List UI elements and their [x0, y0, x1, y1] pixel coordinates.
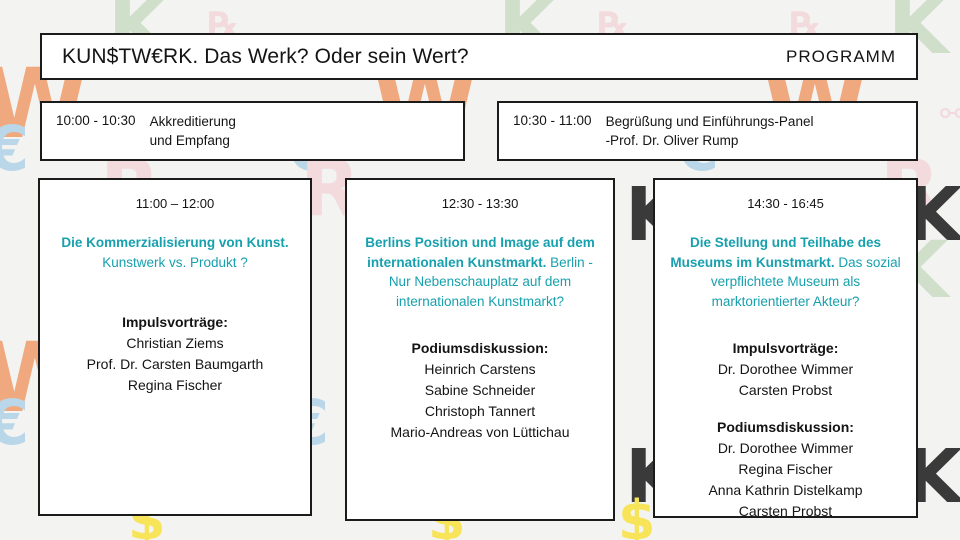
session-card-2: 12:30 - 13:30 Berlins Position und Image…	[345, 178, 615, 521]
session-participant: Dr. Dorothee Wimmer	[708, 438, 862, 459]
slot-description-line1: Begrüßung und Einführungs-Panel	[606, 112, 814, 131]
page-title: KUN$TW€RK. Das Werk? Oder sein Wert?	[62, 45, 469, 69]
session-block: Impulsvorträge: Christian Ziems Prof. Dr…	[87, 312, 264, 396]
session-block-heading: Impulsvorträge:	[718, 338, 853, 359]
slot-time: 10:00 - 10:30	[56, 112, 136, 128]
header-bar: KUN$TW€RK. Das Werk? Oder sein Wert? PRO…	[40, 33, 918, 80]
session-topic-regular: Kunstwerk vs. Produkt ?	[102, 255, 248, 270]
session-block-heading: Podiumsdiskussion:	[391, 338, 570, 359]
session-participant: Prof. Dr. Carsten Baumgarth	[87, 354, 264, 375]
session-card-3: 14:30 - 16:45 Die Stellung und Teilhabe …	[653, 178, 918, 518]
slot-description-line2: und Empfang	[150, 131, 236, 150]
session-participant: Dr. Dorothee Wimmer	[718, 359, 853, 380]
slot-time: 10:30 - 11:00	[513, 112, 592, 128]
session-topic: Berlins Position und Image auf dem inter…	[357, 233, 603, 312]
session-time: 12:30 - 13:30	[442, 196, 519, 211]
session-block-heading: Podiumsdiskussion:	[708, 417, 862, 438]
program-sheet: KUN$TW€RK. Das Werk? Oder sein Wert? PRO…	[0, 0, 960, 540]
session-topic: Die Stellung und Teilhabe des Museums im…	[665, 233, 906, 312]
slot-description-line1: Akkreditierung	[150, 112, 236, 131]
session-block-heading: Impulsvorträge:	[87, 312, 264, 333]
slot-description-line2: -Prof. Dr. Oliver Rump	[606, 131, 814, 150]
schedule-slot-accreditation: 10:00 - 10:30 Akkreditierung und Empfang	[40, 101, 465, 161]
session-participant: Anna Kathrin Distelkamp	[708, 480, 862, 501]
session-topic-bold: Die Kommerzialisierung von Kunst.	[61, 235, 288, 250]
session-participant: Regina Fischer	[708, 459, 862, 480]
session-participant: Carsten Probst	[718, 380, 853, 401]
session-block: Impulsvorträge: Dr. Dorothee Wimmer Cars…	[718, 338, 853, 401]
session-participant: Carsten Probst	[708, 501, 862, 522]
page-title-brand: KUN$TW€RK.	[62, 45, 198, 68]
session-time: 11:00 – 12:00	[136, 196, 215, 211]
session-participant: Regina Fischer	[87, 375, 264, 396]
session-participant: Christoph Tannert	[391, 401, 570, 422]
session-block: Podiumsdiskussion: Dr. Dorothee Wimmer R…	[708, 417, 862, 522]
session-participant: Mario-Andreas von Lüttichau	[391, 422, 570, 443]
slot-description: Begrüßung und Einführungs-Panel -Prof. D…	[606, 112, 814, 150]
schedule-slot-welcome: 10:30 - 11:00 Begrüßung und Einführungs-…	[497, 101, 918, 161]
session-participant: Sabine Schneider	[391, 380, 570, 401]
session-block: Podiumsdiskussion: Heinrich Carstens Sab…	[391, 338, 570, 443]
session-time: 14:30 - 16:45	[747, 196, 824, 211]
page-title-subtitle: Das Werk? Oder sein Wert?	[198, 45, 468, 68]
session-topic: Die Kommerzialisierung von Kunst. Kunstw…	[50, 233, 300, 272]
slot-description: Akkreditierung und Empfang	[150, 112, 236, 150]
session-participant: Christian Ziems	[87, 333, 264, 354]
header-program-label: PROGRAMM	[786, 47, 896, 67]
session-participant: Heinrich Carstens	[391, 359, 570, 380]
session-card-1: 11:00 – 12:00 Die Kommerzialisierung von…	[38, 178, 312, 516]
